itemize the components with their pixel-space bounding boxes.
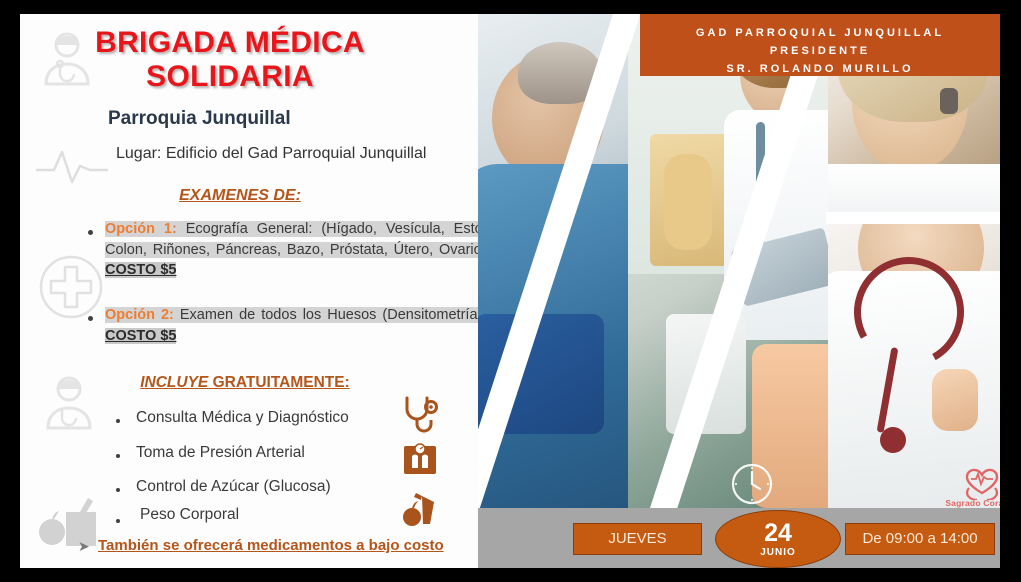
sagrado-corazon-label: Sagrado Corazón [945,498,1000,508]
header-line-2: PRESIDENTE [640,42,1000,60]
option-2-text: Examen de todos los Huesos (Densitometrí… [180,307,523,323]
option-1-cost: COSTO $5 [105,262,176,278]
bullet-marker [116,419,120,423]
bullet-marker [116,488,120,492]
photo-divider [826,212,1000,224]
service-item-glucosa: Control de Azúcar (Glucosa) [136,478,331,496]
medical-cross-watermark-icon [38,254,104,320]
gad-header-banner: GAD PARROQUIAL JUNQUILLAL PRESIDENTE SR.… [640,14,1000,76]
bullet-marker [116,454,120,458]
sagrado-corazon-logo: Sagrado Corazón [945,462,1000,508]
includes-heading-rest: GRATUITAMENTE: [208,374,350,391]
exam-option-2: Opción 2: Examen de todos los Huesos (De… [105,305,523,346]
service-item-peso: Peso Corporal [140,506,239,524]
stethoscope-icon [402,394,438,439]
medication-note: También se ofrecerá medicamentos a bajo … [98,537,444,554]
includes-heading-italic: INCLUYE [140,374,208,391]
day-chip: JUEVES [573,523,702,555]
bullet-marker [116,519,120,523]
header-line-3: SR. ROLANDO MURILLO [640,60,1000,78]
exams-heading: EXAMENES DE: [20,187,460,205]
service-item-consulta: Consulta Médica y Diagnóstico [136,409,349,427]
date-badge: 24 JUNIO [715,510,841,568]
parroquia-label: Parroquia Junquillal [108,108,291,130]
arrow-bullet-icon: ➤ [78,538,90,555]
date-number: 24 [716,511,840,546]
bullet-marker [88,230,93,235]
poster-root: BRIGADA MÉDICA SOLIDARIA Parroquia Junqu… [0,0,1021,582]
service-item-presion: Toma de Presión Arterial [136,444,305,462]
exam-option-1: Opción 1: Ecografía General: (Hígado, Ve… [105,219,523,281]
bullet-marker [88,316,93,321]
apple-nutrition-icon [402,490,438,533]
includes-heading: INCLUYE GRATUITAMENTE: [20,374,470,392]
option-2-cost: COSTO $5 [105,328,176,344]
time-chip: De 09:00 a 14:00 [845,523,995,555]
schedule-bar: JUEVES 24 JUNIO De 09:00 a 14:00 [478,508,1000,568]
option-1-label: Opción 1: [105,221,177,237]
scale-icon [402,442,438,481]
header-line-1: GAD PARROQUIAL JUNQUILLAL [640,24,1000,42]
month-label: JUNIO [716,547,840,558]
page-title: BRIGADA MÉDICA SOLIDARIA [20,26,440,93]
poster-content: BRIGADA MÉDICA SOLIDARIA Parroquia Junqu… [20,14,1000,568]
clock-icon [730,462,774,506]
option-2-label: Opción 2: [105,307,174,323]
left-info-panel: BRIGADA MÉDICA SOLIDARIA Parroquia Junqu… [20,14,478,568]
lugar-label: Lugar: Edificio del Gad Parroquial Junqu… [116,145,426,163]
heartbeat-watermark-icon [34,144,110,188]
